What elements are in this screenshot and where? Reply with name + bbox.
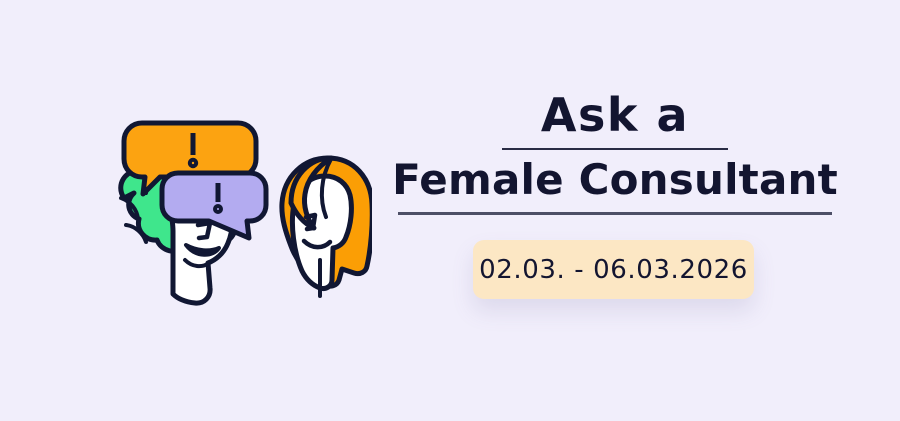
woman-orange-straight-hair — [282, 158, 372, 296]
two-women-conversation-illustration — [52, 95, 372, 325]
headline-line-1: Ask a — [380, 88, 850, 142]
headline-block: Ask a Female Consultant — [380, 88, 850, 215]
banner-root: Ask a Female Consultant 02.03. - 06.03.2… — [0, 0, 900, 421]
headline-divider-bottom — [398, 212, 832, 215]
headline-line-2: Female Consultant — [380, 154, 850, 206]
date-range-badge: 02.03. - 06.03.2026 — [473, 240, 754, 299]
date-range-text: 02.03. - 06.03.2026 — [479, 255, 748, 285]
headline-divider-top — [502, 148, 728, 150]
